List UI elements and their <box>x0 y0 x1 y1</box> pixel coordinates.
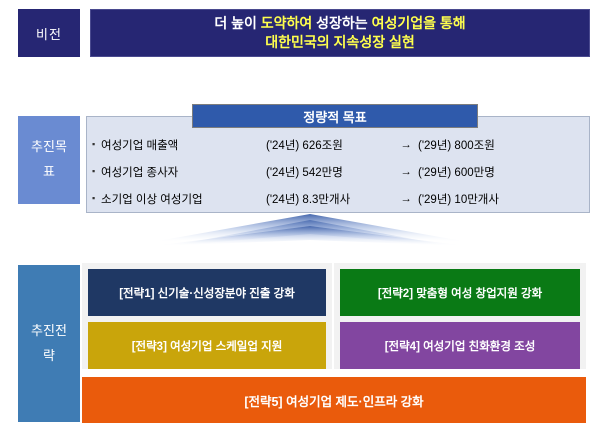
vision-line1-seg2: 도약하여 <box>261 15 316 31</box>
vision-banner: 더 높이 도약하여 성장하는 여성기업을 통해 대한민국의 지속성장 실현 <box>90 9 590 57</box>
connector-arrow-vision-to-goals <box>150 212 470 254</box>
goal-header: 정량적 목표 <box>192 104 478 128</box>
strategy-box-5[interactable]: [전략5] 여성기업 제도·인프라 강화 <box>82 377 586 423</box>
connector-arrow-goals-to-strategy <box>150 222 470 264</box>
vision-label-text: 비전 <box>36 24 62 43</box>
arrow-right-icon: → <box>394 139 418 151</box>
goal-name: 여성기업 매출액 <box>101 137 266 153</box>
strategy-box-1-label: [전략1] 신기술·신성장분야 진출 강화 <box>119 285 295 301</box>
strategy-label: 추진전 략 <box>18 265 80 422</box>
goal-row: ▪ 여성기업 매출액 ('24년) 626조원 → ('29년) 800조원 <box>92 131 584 158</box>
strategy-box-2[interactable]: [전략2] 맞춤형 여성 창업지원 강화 <box>340 269 580 316</box>
bullet-icon: ▪ <box>92 194 101 203</box>
strategy-column-left: [전략1] 신기술·신성장분야 진출 강화 [전략3] 여성기업 스케일업 지원 <box>82 263 332 369</box>
goal-from-value: ('24년) 542만명 <box>266 164 394 180</box>
goal-to-value: ('29년) 800조원 <box>418 137 495 153</box>
goal-label: 추진목 표 <box>18 116 80 204</box>
strategy-label-line1: 추진전 <box>31 319 67 344</box>
goal-to-value: ('29년) 10만개사 <box>418 191 499 207</box>
strategy-box-5-label: [전략5] 여성기업 제도·인프라 강화 <box>244 391 423 410</box>
vision-line-1: 더 높이 도약하여 성장하는 여성기업을 통해 <box>214 14 465 33</box>
strategy-box-2-label: [전략2] 맞춤형 여성 창업지원 강화 <box>378 285 542 301</box>
vision-line-2: 대한민국의 지속성장 실현 <box>265 33 414 52</box>
bullet-icon: ▪ <box>92 140 101 149</box>
strategy-box-4[interactable]: [전략4] 여성기업 친화환경 조성 <box>340 322 580 369</box>
strategy-label-line2: 략 <box>43 344 55 369</box>
goal-to-value: ('29년) 600만명 <box>418 164 495 180</box>
goal-name: 소기업 이상 여성기업 <box>101 191 266 207</box>
goal-header-text: 정량적 목표 <box>303 107 366 126</box>
goal-from-value: ('24년) 626조원 <box>266 137 394 153</box>
strategy-box-4-label: [전략4] 여성기업 친화환경 조성 <box>385 338 536 354</box>
goal-row: ▪ 소기업 이상 여성기업 ('24년) 8.3만개사 → ('29년) 10만… <box>92 185 584 212</box>
bullet-icon: ▪ <box>92 167 101 176</box>
vision-line1-seg1: 더 높이 <box>214 15 260 31</box>
arrow-right-icon: → <box>394 193 418 205</box>
arrow-right-icon: → <box>394 166 418 178</box>
strategy-box-3[interactable]: [전략3] 여성기업 스케일업 지원 <box>88 322 326 369</box>
vision-line1-seg4: 여성기업을 통해 <box>372 15 466 31</box>
strategy-box-3-label: [전략3] 여성기업 스케일업 지원 <box>132 338 283 354</box>
goal-name: 여성기업 종사자 <box>101 164 266 180</box>
goal-label-line2: 표 <box>43 160 55 185</box>
goal-list: ▪ 여성기업 매출액 ('24년) 626조원 → ('29년) 800조원 ▪… <box>92 131 584 212</box>
goal-label-line1: 추진목 <box>31 135 67 160</box>
vision-label: 비전 <box>18 9 80 57</box>
strategy-box-1[interactable]: [전략1] 신기술·신성장분야 진출 강화 <box>88 269 326 316</box>
vision-line1-seg3: 성장하는 <box>316 15 371 31</box>
strategy-column-right: [전략2] 맞춤형 여성 창업지원 강화 [전략4] 여성기업 친화환경 조성 <box>334 263 586 369</box>
goal-row: ▪ 여성기업 종사자 ('24년) 542만명 → ('29년) 600만명 <box>92 158 584 185</box>
goal-from-value: ('24년) 8.3만개사 <box>266 191 394 207</box>
